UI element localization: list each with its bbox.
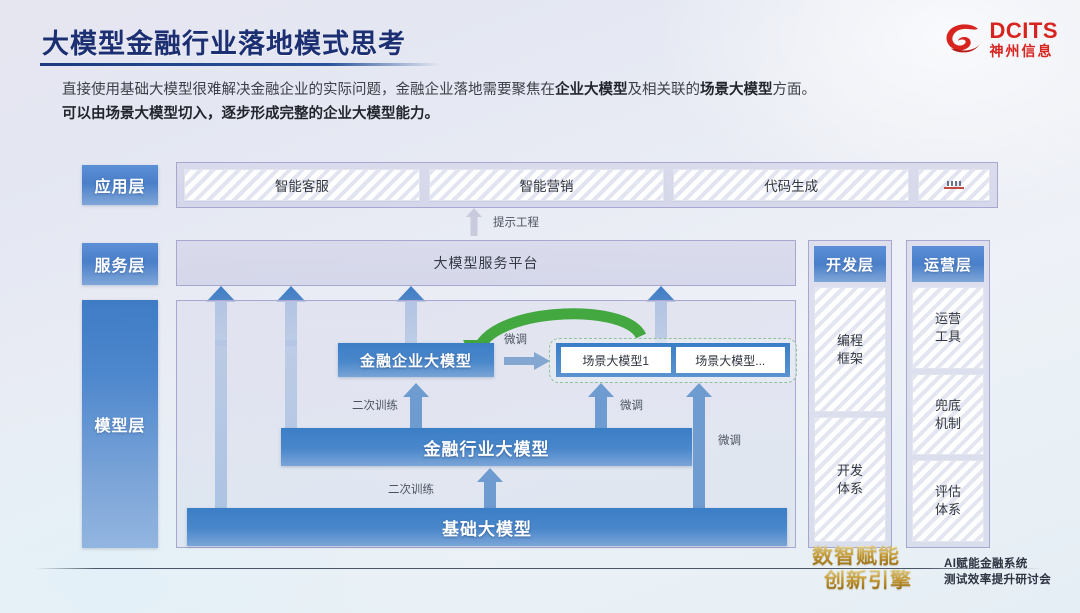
scene-model-box-2[interactable]: 场景大模型... — [676, 347, 786, 373]
subtitle-seg-d: 场景大模型 — [700, 82, 773, 98]
ops-cell-1-line-2: 工具 — [935, 329, 961, 344]
subtitle-block: 直接使用基础大模型很难解决金融企业的实际问题，金融企业落地需要聚焦在企业大模型及… — [62, 78, 942, 126]
more-dots-icon — [944, 181, 964, 189]
dev-cell-programming-framework[interactable]: 编程框架 — [814, 287, 886, 412]
title-underline — [40, 63, 440, 66]
scene-model-container: 场景大模型1 场景大模型... — [556, 343, 790, 377]
service-layer-panel: 大模型服务平台 — [176, 240, 796, 286]
page-title: 大模型金融行业落地模式思考 — [42, 22, 406, 61]
subtitle-seg-b: 企业大模型 — [555, 82, 628, 98]
ops-cell-evaluation-system[interactable]: 评估体系 — [912, 460, 984, 542]
event-brand-line-2: 创新引擎 — [824, 570, 934, 591]
ops-cell-3-line-1: 评估 — [935, 484, 961, 499]
enterprise-model-box[interactable]: 金融企业大模型 — [338, 343, 494, 377]
ops-cell-3-line-2: 体系 — [935, 502, 961, 517]
app-box-more[interactable] — [918, 169, 990, 201]
development-layer-column: 开发层 编程框架 开发体系 — [808, 240, 892, 548]
subtitle-line-1: 直接使用基础大模型很难解决金融企业的实际问题，金融企业落地需要聚焦在企业大模型及… — [62, 78, 942, 102]
subtitle-seg-c: 及相关联的 — [628, 82, 701, 98]
layer-label-application: 应用层 — [82, 165, 158, 205]
event-name-line-2: 测试效率提升研讨会 — [944, 572, 1051, 588]
ops-cell-2-line-2: 机制 — [935, 416, 961, 431]
finetune-label-industry-scene-1: 微调 — [620, 397, 643, 413]
arrow-enterprise-to-scene — [504, 352, 550, 370]
dev-cell-development-system[interactable]: 开发体系 — [814, 417, 886, 542]
arrow-base-to-industry — [477, 468, 503, 510]
app-box-code-generation[interactable]: 代码生成 — [673, 169, 909, 201]
arrow-industry-to-scene-1 — [588, 383, 614, 428]
operation-layer-column: 运营层 运营工具 兜底机制 评估体系 — [906, 240, 990, 548]
subtitle-seg-e: 方面。 — [773, 82, 817, 98]
brand-logo: DCITS 神州信息 — [943, 20, 1059, 58]
prompt-engineering-arrow-icon — [466, 208, 482, 236]
operation-layer-header: 运营层 — [912, 246, 984, 282]
layer-label-service: 服务层 — [82, 243, 158, 285]
subtitle-line-2: 可以由场景大模型切入，逐步形成完整的企业大模型能力。 — [62, 102, 942, 126]
industry-model-box[interactable]: 金融行业大模型 — [281, 428, 692, 466]
retrain-label-top: 二次训练 — [352, 397, 398, 413]
ops-cell-operation-tools[interactable]: 运营工具 — [912, 287, 984, 369]
event-brand-logo: 数智赋能 创新引擎 — [812, 546, 934, 591]
dcits-swirl-icon — [943, 21, 983, 57]
retrain-label-bottom: 二次训练 — [388, 481, 434, 497]
development-layer-header: 开发层 — [814, 246, 886, 282]
app-box-marketing[interactable]: 智能营销 — [429, 169, 665, 201]
ops-cell-2-line-1: 兜底 — [935, 398, 961, 413]
app-box-customer-service[interactable]: 智能客服 — [184, 169, 420, 201]
slide-canvas: 大模型金融行业落地模式思考 直接使用基础大模型很难解决金融企业的实际问题，金融企… — [0, 0, 1080, 613]
dev-cell-1-line-1: 编程 — [837, 333, 863, 348]
dev-cell-2-line-2: 体系 — [837, 481, 863, 496]
event-brand-line-1: 数智赋能 — [812, 546, 934, 567]
scene-model-box-1[interactable]: 场景大模型1 — [561, 347, 671, 373]
arrow-base-to-scene-2 — [686, 383, 712, 509]
layer-label-model: 模型层 — [82, 300, 158, 548]
finetune-label-ent-to-scene: 微调 — [504, 331, 527, 347]
subtitle-seg-a: 直接使用基础大模型很难解决金融企业的实际问题，金融企业落地需要聚焦在 — [62, 82, 555, 98]
application-box-row: 智能客服 智能营销 代码生成 — [176, 169, 998, 201]
base-model-box[interactable]: 基础大模型 — [187, 508, 787, 546]
dev-cell-2-line-1: 开发 — [837, 463, 863, 478]
logo-en-text: DCITS — [990, 20, 1059, 42]
dev-cell-1-line-2: 框架 — [837, 351, 863, 366]
prompt-engineering-label: 提示工程 — [493, 214, 539, 230]
arrow-industry-to-enterprise — [403, 383, 429, 428]
service-platform-label: 大模型服务平台 — [434, 253, 539, 273]
ops-cell-fallback-mechanism[interactable]: 兜底机制 — [912, 374, 984, 456]
ops-cell-1-line-1: 运营 — [935, 311, 961, 326]
finetune-label-industry-scene-2: 微调 — [718, 432, 741, 448]
event-name-line-1: AI赋能金融系统 — [944, 556, 1051, 572]
logo-cn-text: 神州信息 — [990, 44, 1059, 58]
event-name-block: AI赋能金融系统 测试效率提升研讨会 — [944, 556, 1051, 588]
